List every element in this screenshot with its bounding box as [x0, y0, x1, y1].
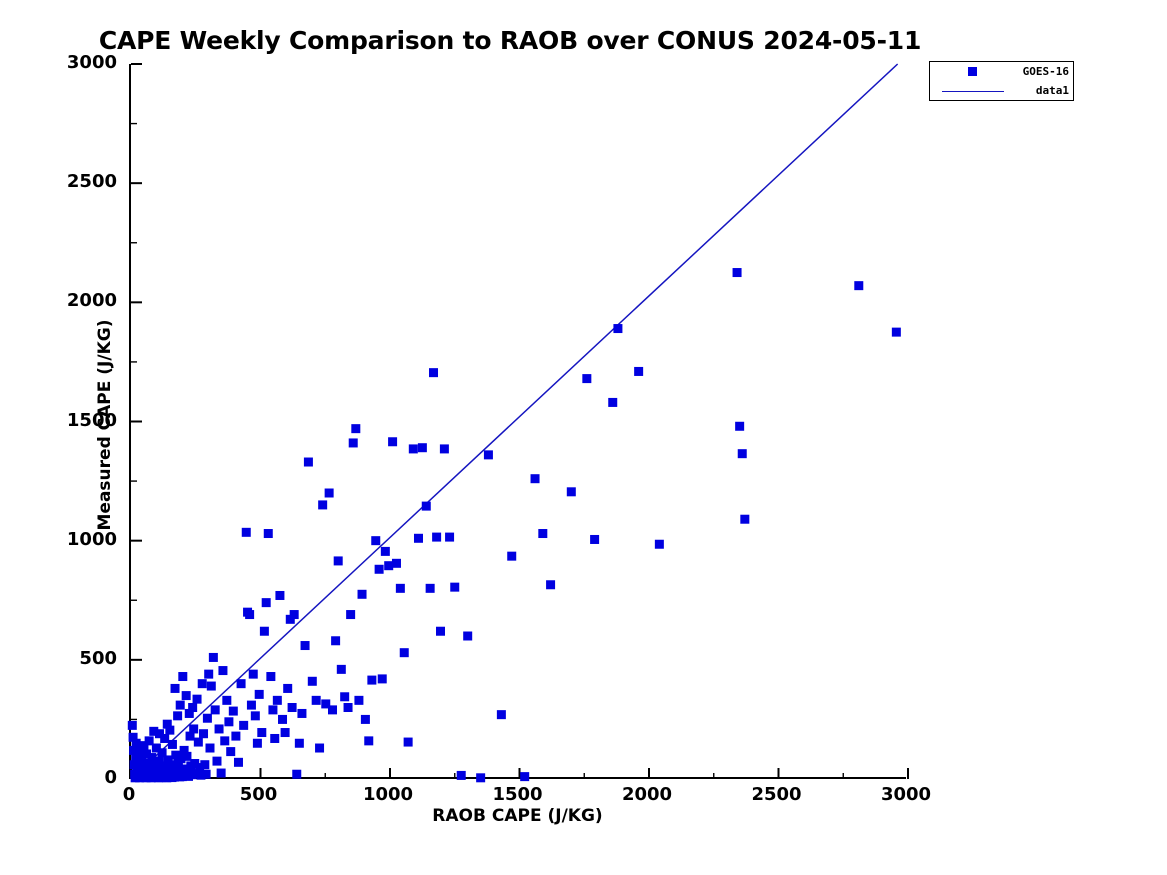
- x-tick-label: 3000: [866, 784, 946, 805]
- legend-label-data1: data1: [1036, 84, 1069, 97]
- y-tick-label: 500: [27, 648, 117, 669]
- legend-square-marker-icon: [968, 67, 977, 76]
- x-tick-label: 2500: [737, 784, 817, 805]
- x-tick-label: 500: [219, 784, 299, 805]
- x-axis-label: RAOB CAPE (J/KG): [129, 806, 906, 826]
- y-tick-label: 0: [27, 767, 117, 788]
- figure-canvas: CAPE Weekly Comparison to RAOB over CONU…: [0, 0, 1167, 875]
- y-tick-label: 1000: [27, 529, 117, 550]
- y-tick-label: 1500: [27, 410, 117, 431]
- reference-line-data1: [131, 64, 898, 779]
- plot-area: [129, 64, 906, 779]
- page-title: CAPE Weekly Comparison to RAOB over CONU…: [0, 26, 1020, 55]
- legend-entry-data1: data1: [930, 81, 1075, 101]
- x-tick-label: 1500: [478, 784, 558, 805]
- y-tick-label: 3000: [27, 52, 117, 73]
- axis-ticks: [131, 64, 908, 779]
- scatter-plot-canvas: [131, 64, 908, 779]
- scatter-points-goes16: [128, 268, 901, 782]
- x-tick-label: 1000: [348, 784, 428, 805]
- legend-line-icon: [942, 91, 1004, 92]
- y-tick-label: 2500: [27, 171, 117, 192]
- legend-box: GOES-16 data1: [929, 61, 1074, 101]
- legend-entry-goes16: GOES-16: [930, 62, 1075, 82]
- legend-label-goes16: GOES-16: [1023, 65, 1069, 78]
- y-tick-label: 2000: [27, 290, 117, 311]
- x-tick-label: 2000: [607, 784, 687, 805]
